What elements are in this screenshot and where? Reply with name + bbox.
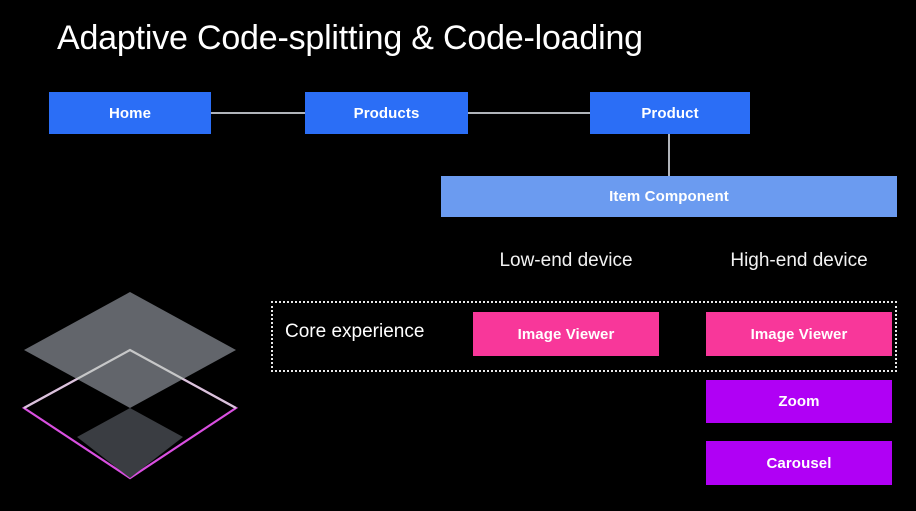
connector-products-product <box>468 112 590 114</box>
column-header-high-end-device: High-end device <box>706 250 892 272</box>
flow-node-products[interactable]: Products <box>305 92 468 134</box>
connector-home-products <box>211 112 305 114</box>
core-experience-label: Core experience <box>285 321 424 343</box>
connector-product-item <box>668 134 670 177</box>
flow-node-product[interactable]: Product <box>590 92 750 134</box>
slide-canvas: Adaptive Code-splitting & Code-loading H… <box>0 0 916 511</box>
column-header-low-end-device: Low-end device <box>473 250 659 272</box>
flow-node-item-component[interactable]: Item Component <box>441 176 897 217</box>
page-title: Adaptive Code-splitting & Code-loading <box>57 19 643 58</box>
chip-carousel[interactable]: Carousel <box>706 441 892 485</box>
layers-diamond-icon <box>10 280 260 500</box>
chip-image-viewer-high-end[interactable]: Image Viewer <box>706 312 892 356</box>
flow-node-home[interactable]: Home <box>49 92 211 134</box>
chip-image-viewer-low-end[interactable]: Image Viewer <box>473 312 659 356</box>
chip-zoom[interactable]: Zoom <box>706 380 892 423</box>
layers-diamond-illustration <box>10 280 260 500</box>
